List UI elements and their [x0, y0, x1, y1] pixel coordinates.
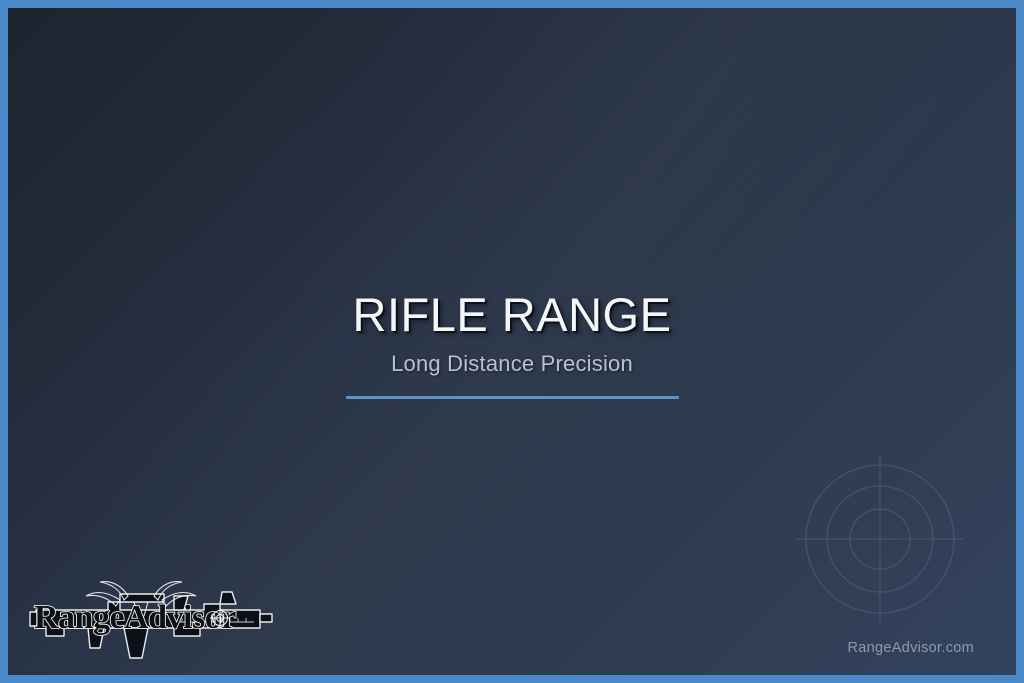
page-subtitle: Long Distance Precision — [8, 351, 1016, 377]
title-block: RIFLE RANGE Long Distance Precision — [8, 290, 1016, 399]
page-title: RIFLE RANGE — [8, 290, 1016, 339]
brand-wordmark: RangeAdvisor — [34, 599, 236, 636]
slide-canvas: RIFLE RANGE Long Distance Precision — [8, 8, 1016, 675]
accent-divider — [346, 396, 679, 399]
presentation-slide: RIFLE RANGE Long Distance Precision — [0, 0, 1024, 683]
footer-watermark: RangeAdvisor.com — [848, 640, 975, 656]
brand-logo: RangeAdvisor — [24, 566, 276, 666]
target-crosshair-icon — [797, 456, 963, 622]
